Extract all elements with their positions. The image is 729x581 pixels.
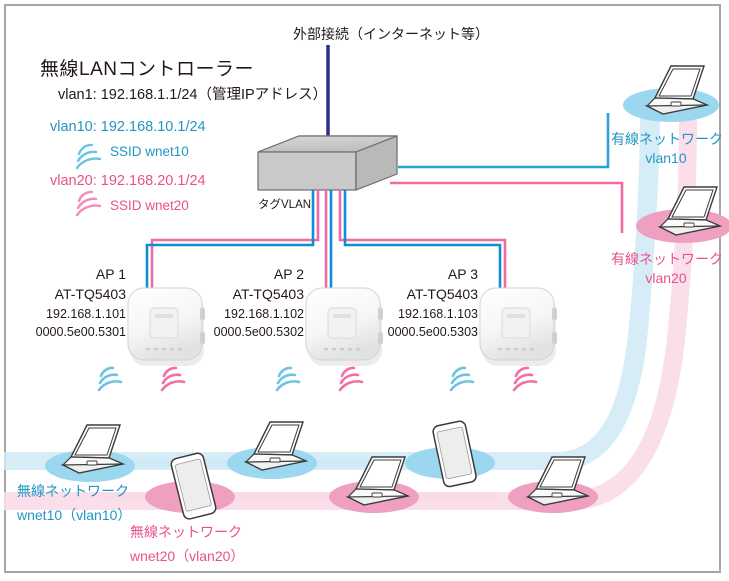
controller-vlan20-label: vlan20: 192.168.20.1/24 <box>50 172 206 190</box>
laptop-icon-wnet10-client2 <box>246 422 306 470</box>
wireless-network-wnet10-id: wnet10（vlan10） <box>17 507 131 525</box>
external-connection-label: 外部接続（インターネット等） <box>293 26 489 44</box>
ap3-model-label: AT-TQ5403 <box>378 286 478 304</box>
wifi-signal-icon-ssid-wnet20 <box>77 192 100 215</box>
ap1-model-label: AT-TQ5403 <box>26 286 126 304</box>
cable-wired-vlan20 <box>390 183 622 233</box>
laptop-icon-wnet10-client1 <box>63 425 123 473</box>
wifi-signal-icon-ap3-vlan20 <box>514 368 536 390</box>
wifi-signal-icon-ap1-vlan20b <box>162 368 184 390</box>
wifi-signal-icon-ap2-vlan20 <box>340 368 362 390</box>
network-diagram-canvas: 外部接続（インターネット等） 無線LANコントローラー vlan1: 192.1… <box>0 0 729 581</box>
ap2-ip-label: 192.168.1.102 <box>200 307 304 323</box>
wifi-signal-icon-ssid-wnet10 <box>77 145 100 168</box>
wifi-signal-icon-ap3-vlan10 <box>451 368 473 390</box>
ap3-mac-label: 0000.5e00.5303 <box>370 325 478 341</box>
cable-wired-vlan10 <box>398 113 608 167</box>
ap3-ip-label: 192.168.1.103 <box>374 307 478 323</box>
ap1-name-label: AP 1 <box>36 266 126 284</box>
wired-network-vlan10-vlan: vlan10 <box>611 150 721 168</box>
wifi-signal-icon-ap2-vlan10 <box>277 368 299 390</box>
cable-trunk-ap2 <box>326 190 331 292</box>
wireless-lan-controller-device <box>258 136 397 190</box>
ap1-ip-label: 192.168.1.101 <box>22 307 126 323</box>
wireless-network-wnet10-label: 無線ネットワーク <box>17 483 129 501</box>
controller-vlan10-label: vlan10: 192.168.10.1/24 <box>50 118 206 136</box>
access-point-1-icon <box>128 288 205 366</box>
ap1-mac-label: 0000.5e00.5301 <box>18 325 126 341</box>
ap2-model-label: AT-TQ5403 <box>204 286 304 304</box>
ap2-mac-label: 0000.5e00.5302 <box>196 325 304 341</box>
controller-ssid10-label: SSID wnet10 <box>110 144 189 161</box>
access-point-3-icon <box>480 288 557 366</box>
ap2-name-label: AP 2 <box>214 266 304 284</box>
page-title: 無線LANコントローラー <box>40 58 254 82</box>
tag-vlan-label: タグVLAN <box>258 198 311 212</box>
wifi-signal-icon-ap1-vlan10 <box>99 368 121 390</box>
wireless-network-wnet20-label: 無線ネットワーク <box>130 524 242 542</box>
wired-network-vlan20-label: 有線ネットワーク <box>611 251 723 269</box>
controller-vlan1-label: vlan1: 192.168.1.1/24（管理IPアドレス） <box>58 86 327 104</box>
wireless-network-wnet20-id: wnet20（vlan20） <box>130 548 244 566</box>
wired-network-vlan10-label: 有線ネットワーク <box>611 131 723 149</box>
wired-network-vlan20-vlan: vlan20 <box>611 270 721 288</box>
controller-ssid20-label: SSID wnet20 <box>110 198 189 215</box>
ap3-name-label: AP 3 <box>388 266 478 284</box>
